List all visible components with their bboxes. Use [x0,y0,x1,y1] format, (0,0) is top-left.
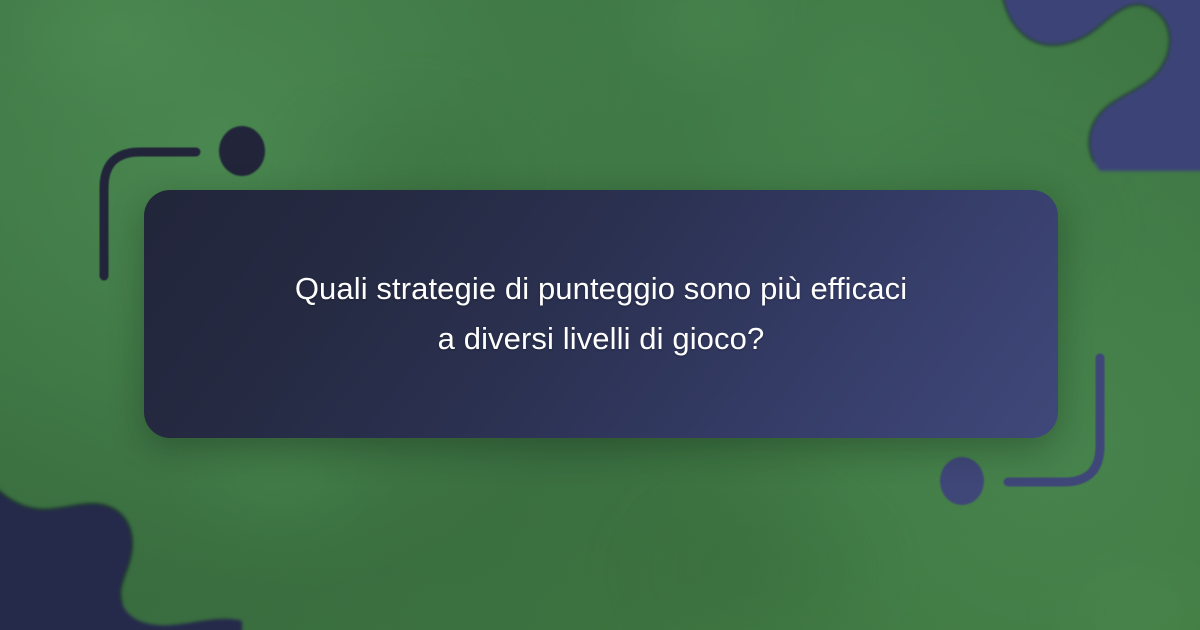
question-card: Quali strategie di punteggio sono più ef… [144,190,1058,438]
corner-blob-top-right [976,0,1200,171]
corner-blob-bottom-left [0,471,242,630]
quote-card-canvas: Quali strategie di punteggio sono più ef… [0,0,1200,630]
decorative-dot-top-left [219,126,265,176]
question-text: Quali strategie di punteggio sono più ef… [202,264,1000,364]
decorative-dot-bottom-right [940,457,984,505]
